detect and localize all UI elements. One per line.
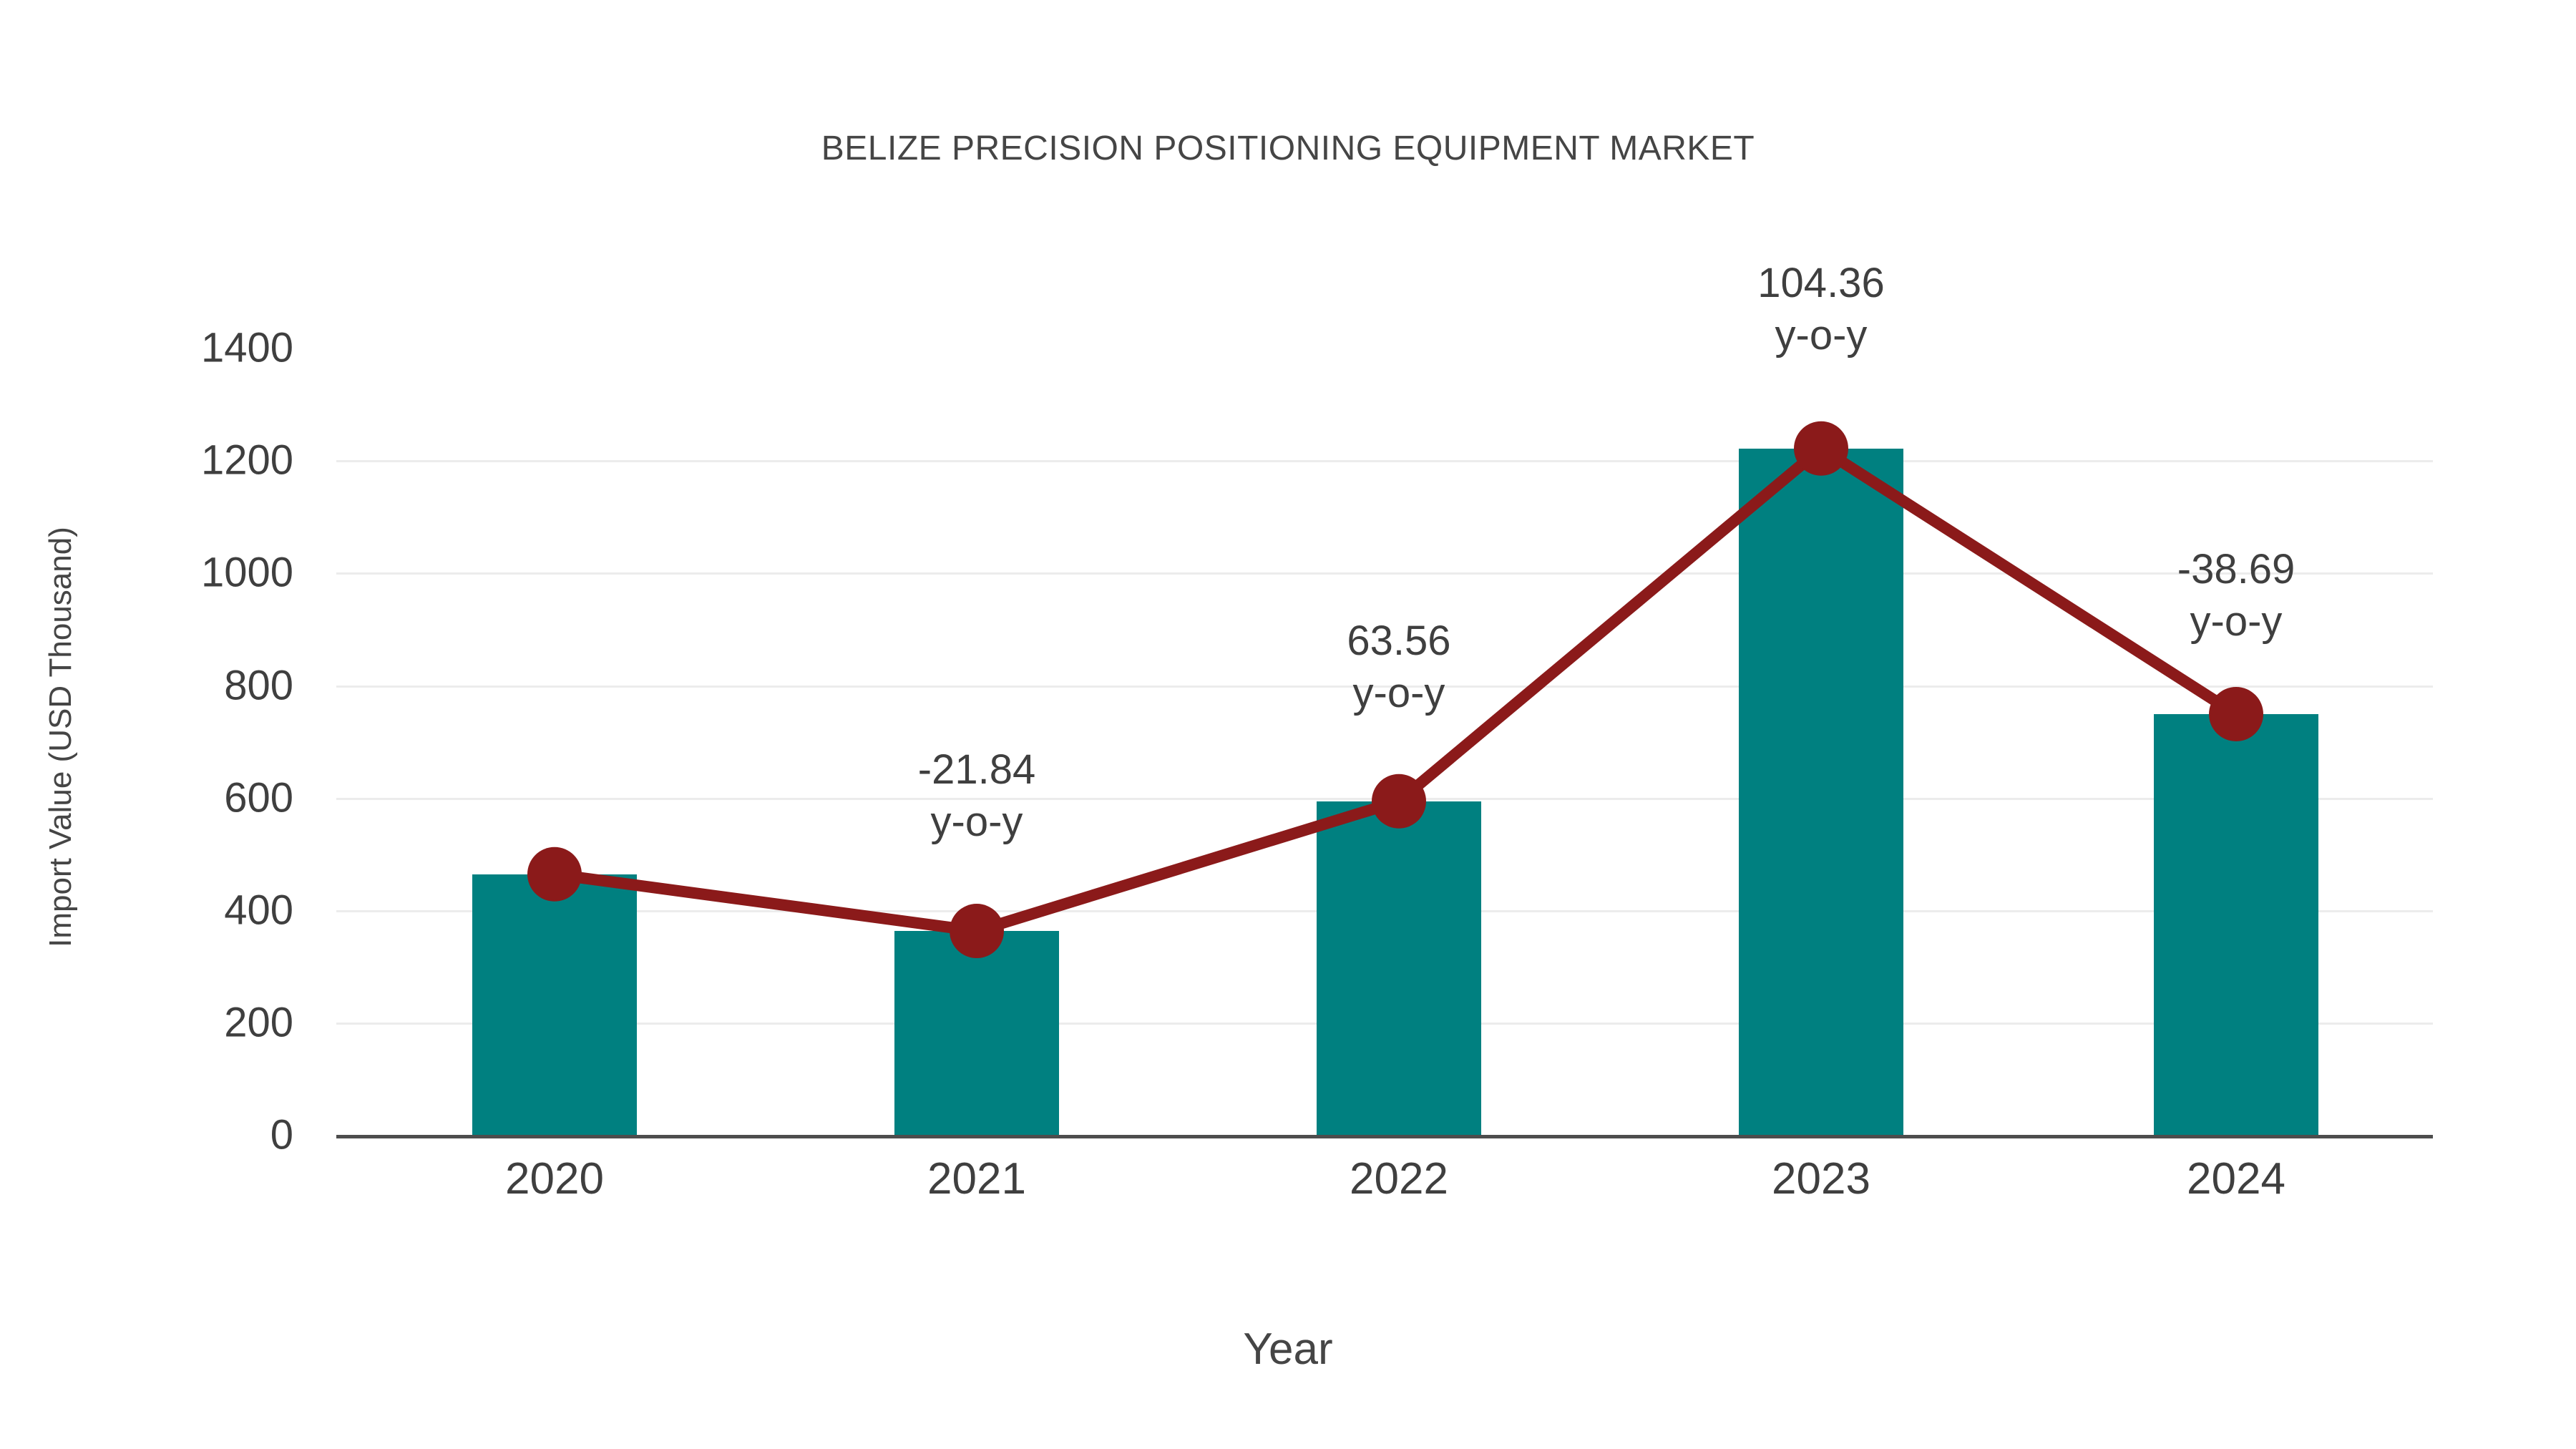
bar-2024[interactable] bbox=[2154, 714, 2318, 1135]
bar-2022[interactable] bbox=[1317, 801, 1481, 1135]
yoy-annotation-2022: 63.56 y-o-y bbox=[1234, 615, 1563, 719]
y-tick-label-1200: 1200 bbox=[21, 436, 293, 484]
yoy-unit: y-o-y bbox=[2072, 596, 2401, 648]
y-tick-label-800: 800 bbox=[21, 662, 293, 710]
y-tick-label-1400: 1400 bbox=[21, 324, 293, 372]
y-tick-label-200: 200 bbox=[21, 999, 293, 1047]
yoy-value: 63.56 bbox=[1347, 618, 1450, 664]
x-tick-label-2023: 2023 bbox=[1714, 1153, 1928, 1204]
yoy-value: 104.36 bbox=[1757, 260, 1884, 306]
yoy-annotation-2024: -38.69 y-o-y bbox=[2072, 544, 2401, 648]
y-tick-label-1000: 1000 bbox=[21, 549, 293, 597]
x-axis-title: Year bbox=[0, 1324, 2576, 1375]
yoy-unit: y-o-y bbox=[812, 796, 1141, 849]
x-tick-label-2022: 2022 bbox=[1292, 1153, 1506, 1204]
y-tick-label-600: 600 bbox=[21, 774, 293, 822]
yoy-annotation-2021: -21.84 y-o-y bbox=[812, 744, 1141, 848]
bar-2020[interactable] bbox=[472, 874, 637, 1135]
yoy-value: -38.69 bbox=[2177, 546, 2295, 592]
bar-2021[interactable] bbox=[894, 931, 1059, 1135]
bar-2023[interactable] bbox=[1739, 449, 1903, 1135]
chart-title: BELIZE PRECISION POSITIONING EQUIPMENT M… bbox=[0, 129, 2576, 168]
yoy-annotation-2023: 104.36 y-o-y bbox=[1657, 258, 1986, 361]
y-tick-label-0: 0 bbox=[21, 1111, 293, 1159]
x-tick-label-2021: 2021 bbox=[869, 1153, 1084, 1204]
gridline-600 bbox=[336, 798, 2433, 800]
x-tick-label-2020: 2020 bbox=[447, 1153, 662, 1204]
y-tick-label-400: 400 bbox=[21, 887, 293, 935]
gridline-1200 bbox=[336, 460, 2433, 462]
yoy-value: -21.84 bbox=[918, 746, 1035, 793]
x-axis-line bbox=[336, 1135, 2433, 1138]
chart-container: BELIZE PRECISION POSITIONING EQUIPMENT M… bbox=[0, 0, 2576, 1449]
x-tick-label-2024: 2024 bbox=[2129, 1153, 2343, 1204]
yoy-unit: y-o-y bbox=[1657, 310, 1986, 362]
yoy-unit: y-o-y bbox=[1234, 668, 1563, 720]
